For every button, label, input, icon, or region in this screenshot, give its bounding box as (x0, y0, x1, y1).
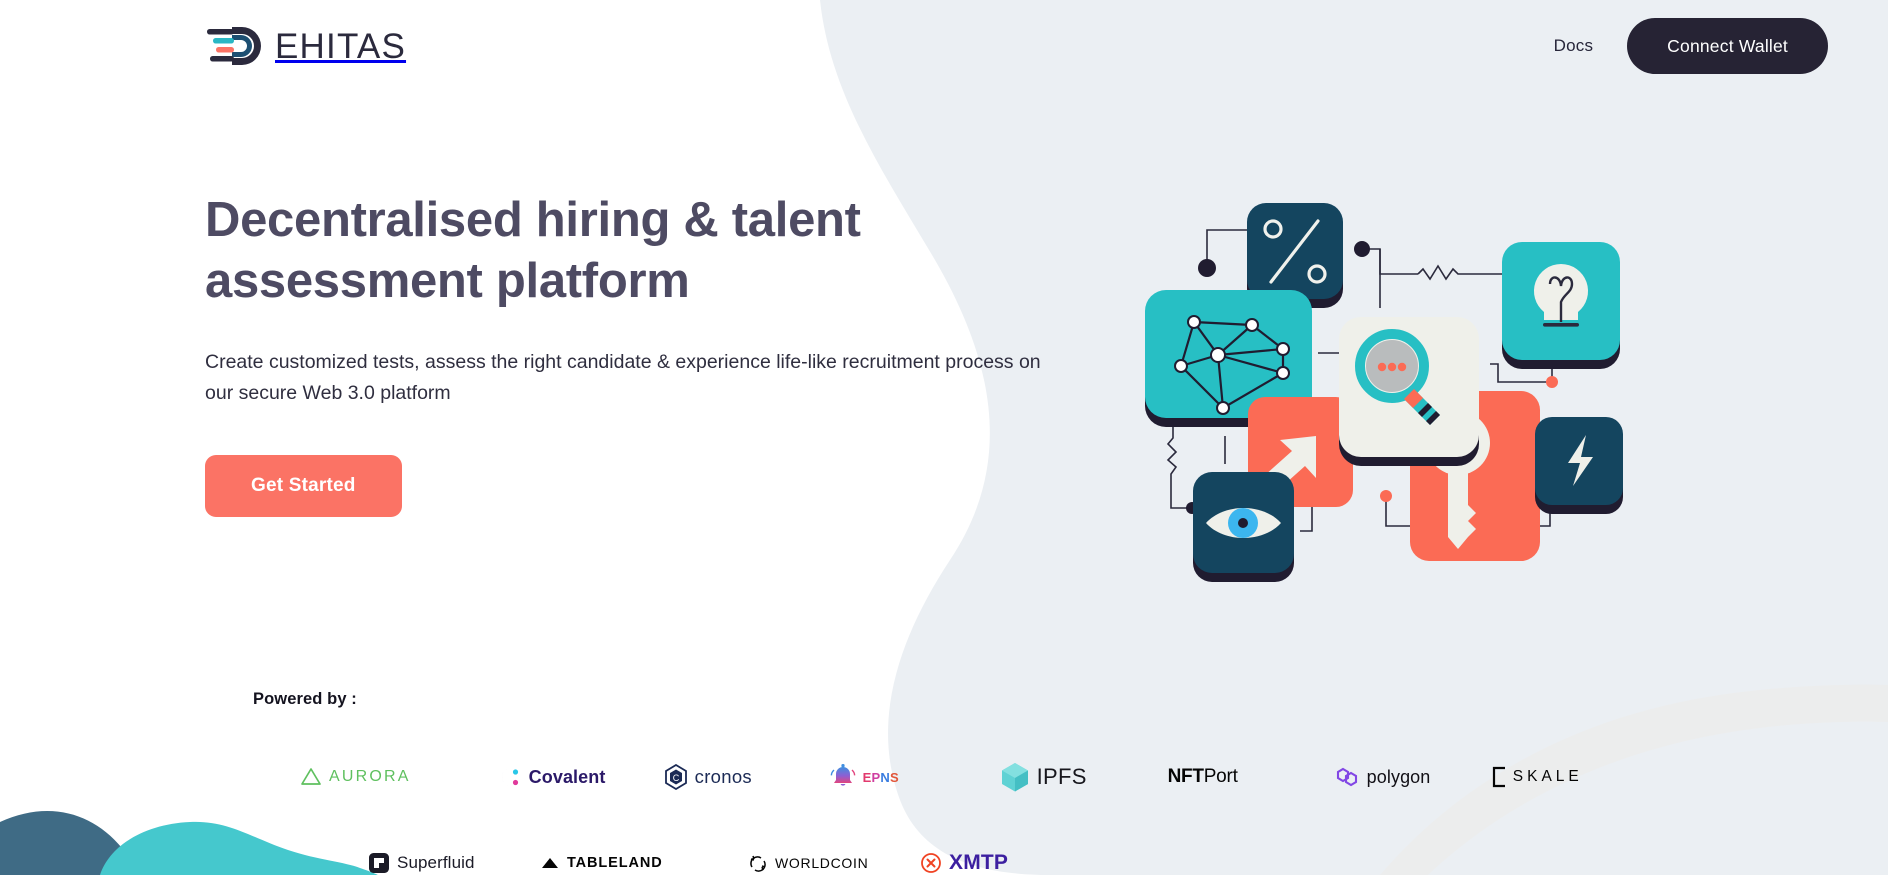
polygon-hexagons-icon (1334, 766, 1360, 788)
landing-page: EHITAS Docs Connect Wallet Decentralised… (0, 0, 1888, 875)
partner-logo-label: SKALE (1513, 768, 1583, 786)
partner-logo-label: Covalent (529, 767, 606, 788)
partner-logo-grid: AURORA Covalent C cronos (300, 760, 1640, 875)
partner-logo-worldcoin[interactable]: WORLDCOIN (748, 846, 920, 875)
site-header: EHITAS Docs Connect Wallet (0, 0, 1888, 92)
wire-dot (1198, 259, 1216, 277)
partner-logo-label: EPNS (863, 767, 899, 787)
skale-bracket-icon (1492, 766, 1506, 788)
nav-link-docs[interactable]: Docs (1554, 36, 1594, 56)
partner-logo-covalent[interactable]: Covalent (498, 760, 664, 794)
partner-logo-ipfs[interactable]: IPFS (1000, 760, 1168, 794)
partner-logo-label: XMTP (949, 851, 1008, 875)
superfluid-square-icon (368, 852, 390, 874)
card-magnifier (1339, 317, 1479, 466)
dehitas-d-speedlines-icon (205, 23, 273, 69)
brand-wordmark: EHITAS (275, 29, 406, 64)
bottom-left-slate-blob (0, 811, 175, 875)
tableland-triangle-icon (540, 855, 560, 871)
aurora-triangle-icon (300, 766, 322, 788)
partner-logo-epns[interactable]: EPNS (830, 760, 1000, 794)
get-started-button[interactable]: Get Started (205, 455, 402, 517)
brand-logo[interactable]: EHITAS (205, 23, 406, 69)
partner-logo-label: Superfluid (397, 853, 475, 873)
epns-bell-icon (830, 763, 856, 791)
xmtp-circle-x-icon (920, 852, 942, 874)
cronos-hexagon-icon: C (664, 764, 688, 790)
worldcoin-orb-icon (748, 853, 768, 873)
hero-subtitle: Create customized tests, assess the righ… (205, 347, 1045, 410)
card-lightbulb (1502, 242, 1620, 369)
partner-logo-label: WORLDCOIN (775, 855, 868, 871)
card-eye (1193, 472, 1294, 582)
partner-logo-xmtp[interactable]: XMTP (920, 846, 1100, 875)
partner-logo-row: Superfluid TABLELAND WORLDCOIN (300, 846, 1640, 875)
partner-logo-label: NFTPort (1168, 766, 1238, 788)
card-lightning (1535, 417, 1623, 514)
hero-illustration (1140, 186, 1650, 596)
partner-logo-skale[interactable]: SKALE (1492, 760, 1640, 794)
partner-logo-label: cronos (695, 766, 752, 788)
partner-logo-label: IPFS (1037, 764, 1087, 790)
connect-wallet-button[interactable]: Connect Wallet (1627, 18, 1828, 74)
partner-logo-row: AURORA Covalent C cronos (300, 760, 1640, 794)
powered-by-label: Powered by : (253, 690, 357, 709)
powered-by-section: Powered by : (253, 690, 357, 709)
hero-title: Decentralised hiring & talent assessment… (205, 190, 965, 313)
svg-text:C: C (672, 773, 679, 783)
wire-dot (1380, 490, 1392, 502)
partner-logo-label: TABLELAND (567, 855, 663, 871)
wire-dot (1546, 376, 1558, 388)
partner-logo-nftport[interactable]: NFTPort (1168, 760, 1334, 794)
header-nav: Docs Connect Wallet (1554, 18, 1828, 74)
wire-dot (1354, 241, 1370, 257)
partner-logo-label: polygon (1367, 767, 1431, 788)
partner-logo-aurora[interactable]: AURORA (300, 760, 498, 794)
ipfs-cube-icon (1000, 761, 1030, 793)
partner-logo-polygon[interactable]: polygon (1334, 760, 1492, 794)
partner-logo-label: AURORA (329, 768, 411, 786)
hero-section: Decentralised hiring & talent assessment… (205, 190, 1065, 517)
partner-logo-tableland[interactable]: TABLELAND (540, 846, 748, 875)
partner-logo-superfluid[interactable]: Superfluid (368, 846, 540, 875)
covalent-dot-icon (498, 765, 522, 789)
partner-logo-cronos[interactable]: C cronos (664, 760, 830, 794)
